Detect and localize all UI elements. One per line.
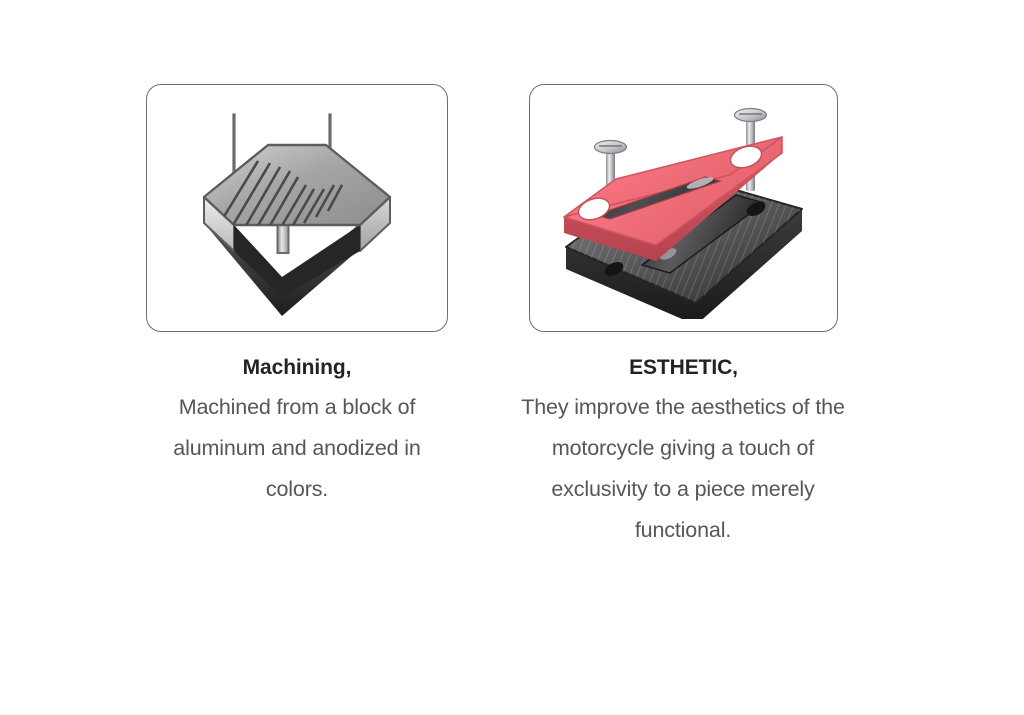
block-bottom-wedge [234, 225, 360, 297]
machining-title: Machining, [146, 354, 448, 381]
screw-head-right [734, 109, 766, 122]
block-top-face [204, 145, 390, 225]
esthetic-description: They improve the aesthetics of the motor… [518, 387, 848, 551]
esthetic-title: ESTHETIC, [529, 354, 838, 381]
machining-description: Machined from a block of aluminum and an… [141, 387, 453, 510]
machining-icon-frame [146, 84, 448, 332]
feature-card-esthetic: ESTHETIC, They improve the aesthetics of… [529, 84, 838, 551]
feature-card-machining: Machining, Machined from a block of alum… [146, 84, 448, 510]
screw-head-left [594, 141, 626, 154]
machining-text-block: Machining, Machined from a block of alum… [146, 332, 448, 510]
cnc-milling-machine-icon [172, 101, 422, 316]
page-root: Machining, Machined from a block of alum… [0, 0, 1024, 715]
anodized-plate-with-screws-icon [550, 97, 818, 319]
esthetic-text-block: ESTHETIC, They improve the aesthetics of… [529, 332, 838, 551]
feature-card-list: Machining, Machined from a block of alum… [146, 84, 838, 551]
esthetic-icon-frame [529, 84, 838, 332]
